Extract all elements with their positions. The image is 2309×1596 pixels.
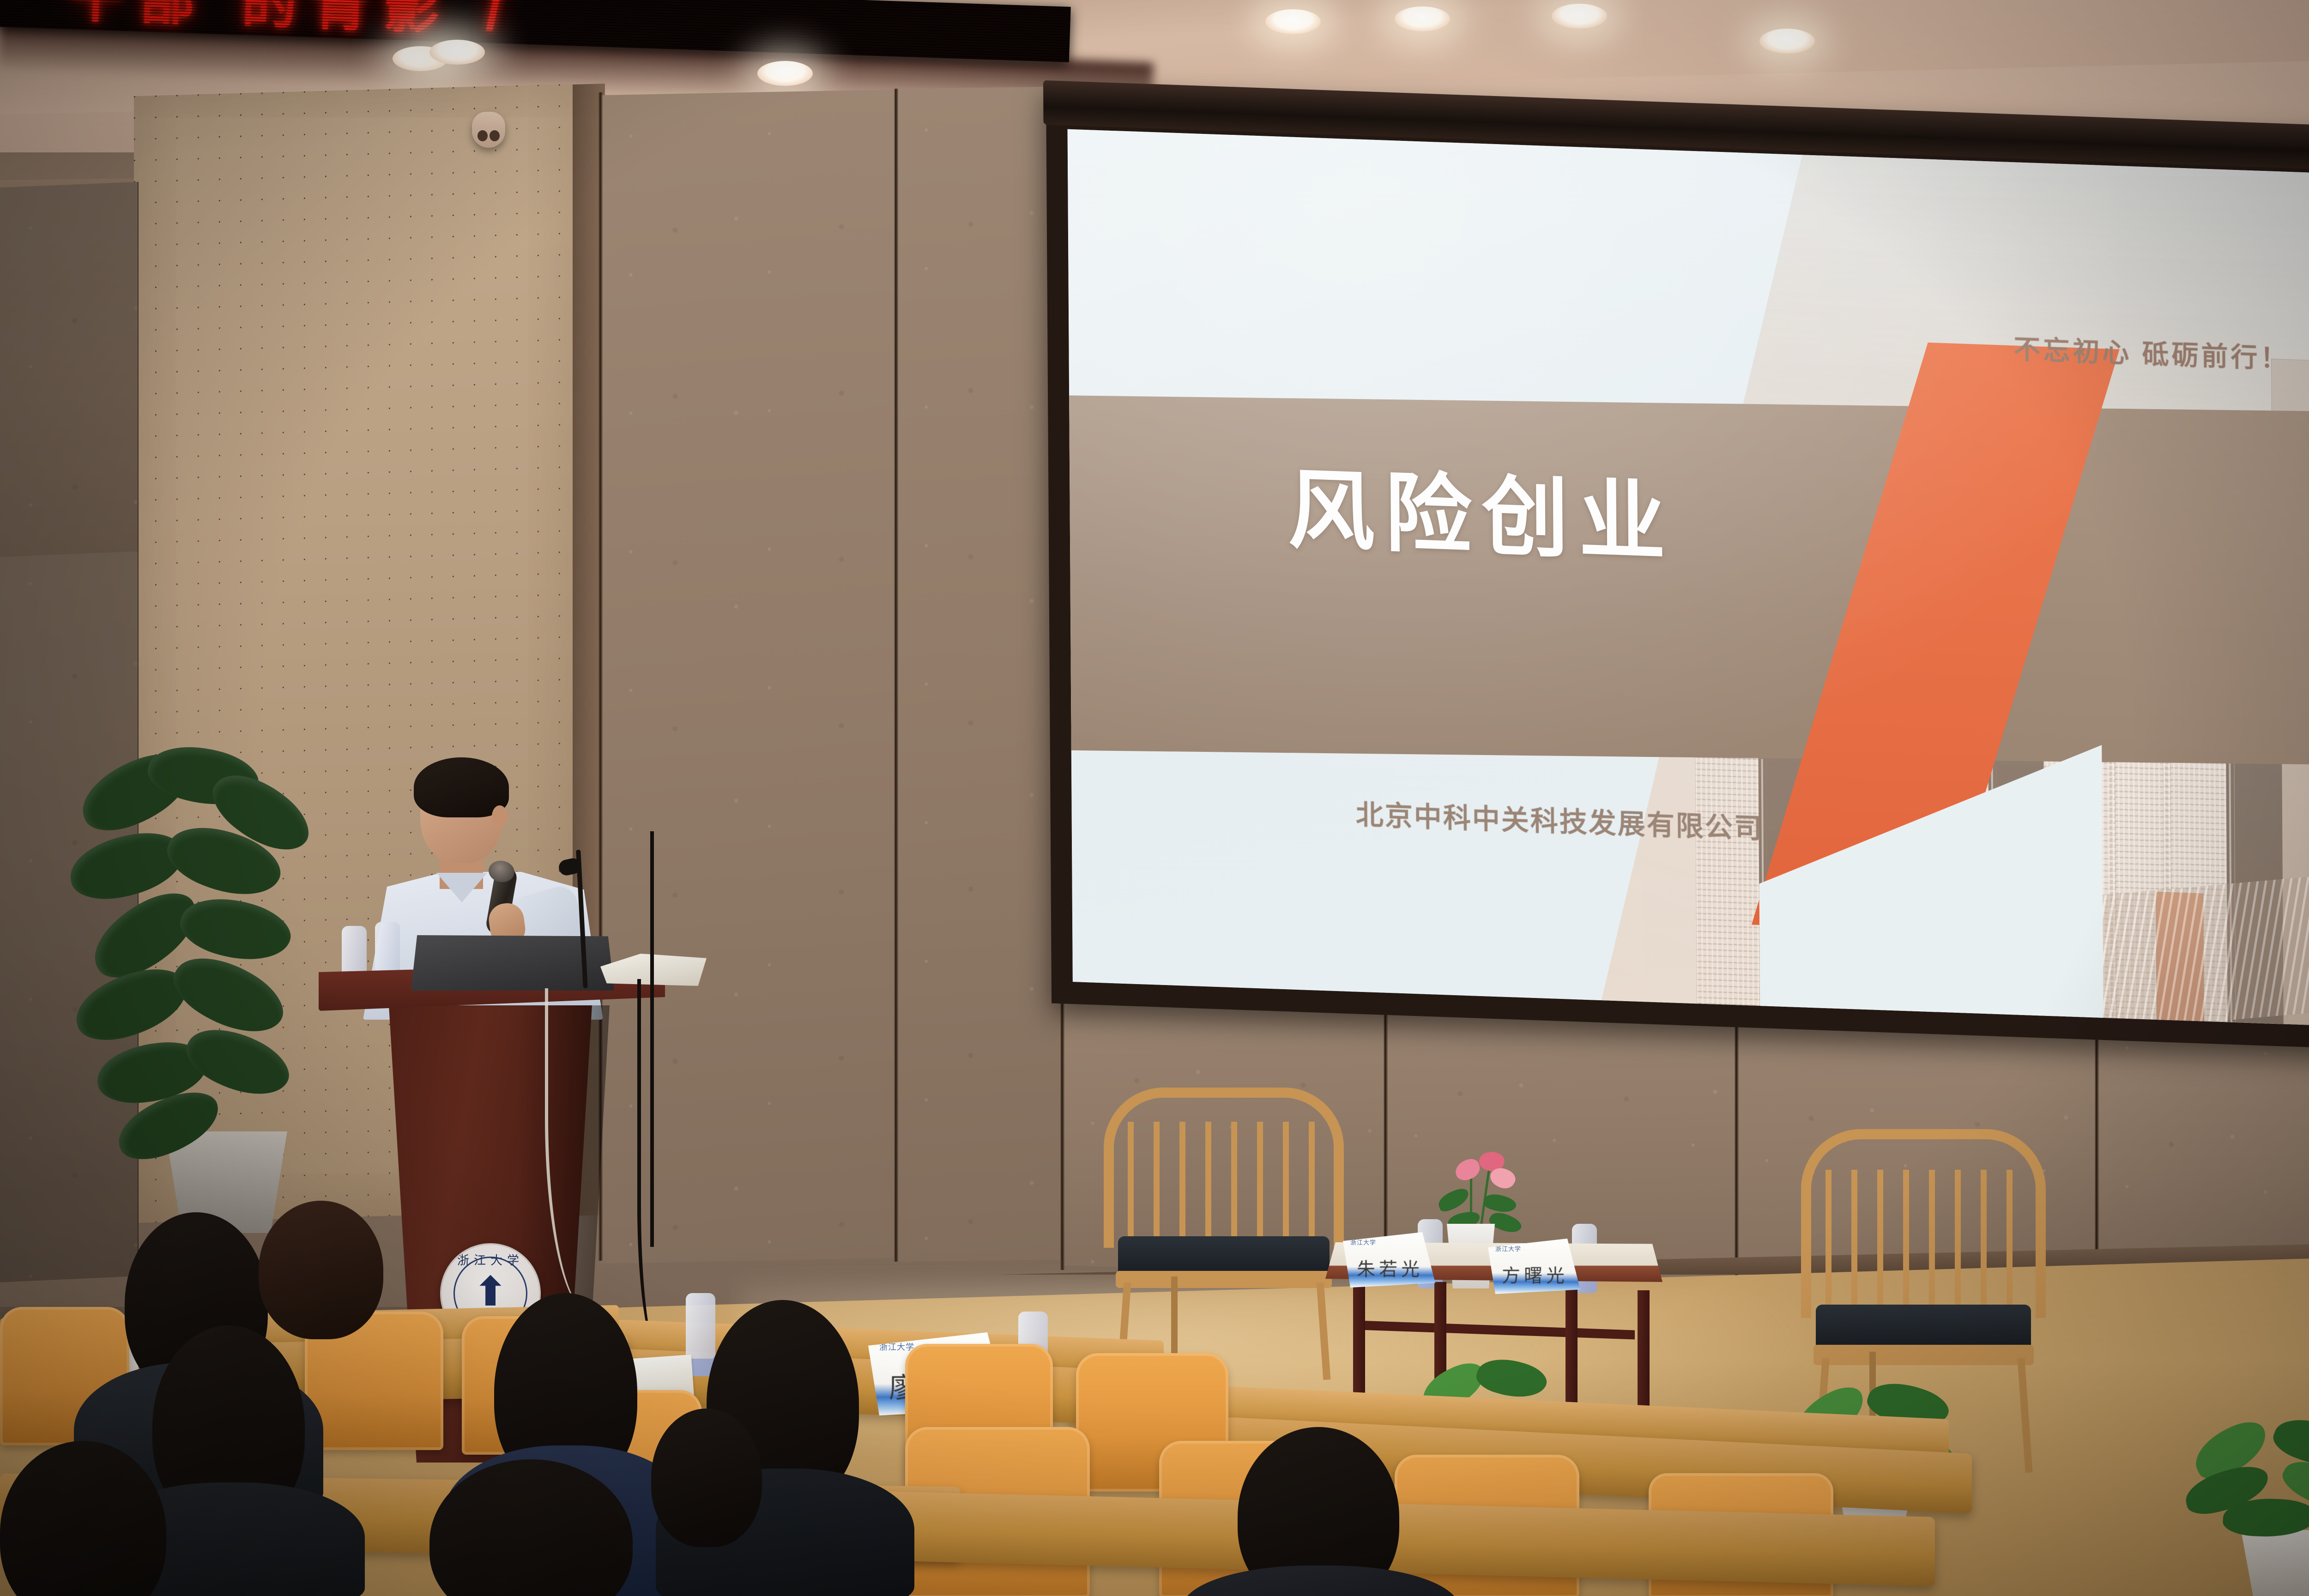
name-card: 浙江大学 方曙光	[1488, 1239, 1580, 1294]
slide-title-band	[1068, 362, 2309, 801]
emblem-bird-icon: ⬆	[473, 1271, 508, 1312]
chair-leg	[1171, 1276, 1178, 1357]
wall-panel-left-top	[0, 182, 139, 557]
audience-head	[259, 1201, 383, 1339]
speaker-cable	[650, 831, 659, 1247]
wall-seam	[894, 89, 898, 1262]
name-card-name: 方曙光	[1495, 1261, 1575, 1288]
flower-arrangement	[1429, 1136, 1526, 1238]
ceiling-downlight	[1552, 4, 1607, 29]
presentation-slide: 不忘初心 砥砺前行！ 风险创业 北京中科中关科技发展有限公司	[1068, 129, 2309, 1028]
chair-leg	[2017, 1358, 2032, 1473]
ceiling-downlight	[1395, 6, 1450, 31]
stage-chair[interactable]	[1104, 1088, 1344, 1374]
ceiling-downlight	[1265, 9, 1321, 34]
security-camera-icon	[472, 112, 505, 148]
projection-screen-surface: 不忘初心 砥砺前行！ 风险创业 北京中科中关科技发展有限公司	[1068, 129, 2309, 1028]
speaker-ear	[492, 805, 508, 828]
ceiling-downlight	[1759, 29, 1815, 54]
audience-head	[651, 1409, 762, 1547]
plant-leaf	[1474, 1352, 1551, 1406]
emblem-name-cn: 浙江大学	[441, 1251, 539, 1268]
name-card: 浙江大学 朱若光	[1343, 1232, 1435, 1288]
plant-pot	[2231, 1530, 2309, 1596]
ceiling-downlight	[429, 40, 485, 65]
projection-screen: 不忘初心 砥砺前行！ 风险创业 北京中科中关科技发展有限公司	[1046, 84, 2309, 1051]
camera-lens-secondary-icon	[490, 130, 500, 141]
slide-title: 风险创业	[1287, 466, 1676, 566]
ceiling-downlight	[757, 61, 813, 86]
wall-panel	[896, 86, 1062, 1262]
wall-seam	[1735, 984, 1739, 1302]
chair-apron	[1813, 1345, 2034, 1365]
name-card-name: 朱若光	[1350, 1254, 1430, 1281]
chair-apron	[1116, 1271, 1332, 1288]
camera-lens-icon	[478, 130, 488, 141]
potted-plant-left	[69, 748, 356, 1233]
potted-plant-stage	[2184, 1422, 2309, 1596]
tea-table-rail	[1358, 1321, 1635, 1340]
flower-petal	[1453, 1157, 1482, 1183]
lecture-hall-scene: 干部 的背影 /	[0, 0, 2309, 1596]
flower-leaf	[1436, 1186, 1472, 1214]
